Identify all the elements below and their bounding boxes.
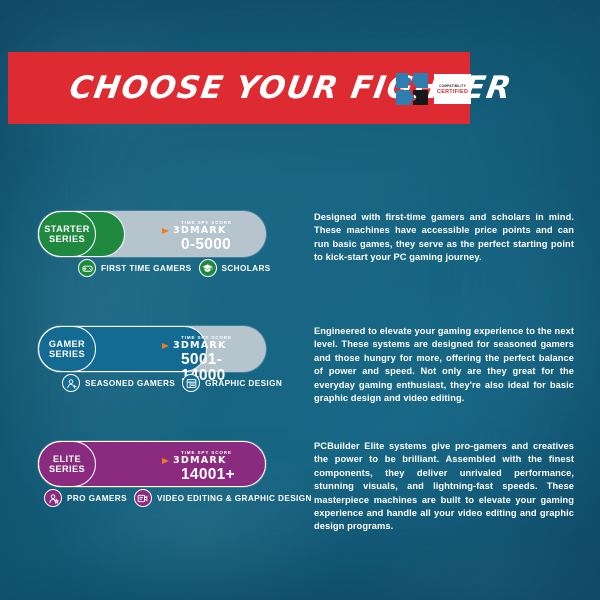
elite-series-badge[interactable]: ELITE SERIES [38, 441, 96, 487]
poster-canvas: CHOOSE YOUR FIGHTER COMPATIBILITY CERTIF… [0, 0, 600, 600]
certified-line1: COMPATIBILITY [439, 84, 466, 88]
tag-seasoned-gamers[interactable]: SEASONED GAMERS [62, 374, 175, 392]
gamer-series-badge[interactable]: GAMER SERIES [38, 326, 96, 372]
arrow-icon [162, 227, 171, 236]
gamepad-icon [78, 259, 96, 277]
gamer-3dmark-logo: 3DMARK [162, 341, 262, 351]
elite-score-bar: ELITE SERIES TIME SPY SCORE 3DMARK 14001… [38, 441, 266, 487]
tag-label: PRO GAMERS [67, 494, 127, 503]
puzzle-icon [394, 71, 430, 107]
tag-first-time-gamers[interactable]: FIRST TIME GAMERS [78, 259, 192, 277]
starter-series-line1: STARTER [44, 224, 90, 235]
certified-line2: CERTIFIED [437, 89, 468, 95]
arrow-icon [162, 457, 171, 466]
elite-3dmark-logo: 3DMARK [162, 456, 262, 466]
seasoned-gamer-icon [62, 374, 80, 392]
elite-description: PCBuilder Elite systems give pro-gamers … [314, 440, 574, 534]
elite-series-line2: SERIES [49, 464, 85, 475]
gamer-series-line1: GAMER [49, 339, 85, 350]
tag-scholars[interactable]: SCHOLARS [199, 259, 271, 277]
video-editing-icon [134, 489, 152, 507]
starter-score-value: 0-5000 [181, 237, 262, 253]
gamer-brand-mark: 3DMARK [173, 341, 227, 351]
tag-label: SCHOLARS [222, 264, 271, 273]
elite-series-line1: ELITE [53, 454, 81, 465]
elite-score-value: 14001+ [181, 467, 262, 483]
elite-brand-mark: 3DMARK [173, 456, 227, 466]
gamer-score-bar: GAMER SERIES TIME SPY SCORE 3DMARK 5001-… [38, 326, 266, 372]
arrow-icon [162, 342, 171, 351]
tag-pro-gamers[interactable]: PRO GAMERS [44, 489, 127, 507]
elite-score-block: TIME SPY SCORE 3DMARK 14001+ [162, 450, 262, 483]
compatibility-certified-logo: COMPATIBILITY CERTIFIED [394, 69, 468, 109]
gamer-tag-list: SEASONED GAMERS GRAPHIC DESIGN [62, 374, 282, 392]
header-banner: CHOOSE YOUR FIGHTER COMPATIBILITY CERTIF… [8, 52, 470, 124]
graphic-design-icon [182, 374, 200, 392]
tag-label: SEASONED GAMERS [85, 379, 175, 388]
tag-graphic-design[interactable]: GRAPHIC DESIGN [182, 374, 282, 392]
graduation-cap-icon [199, 259, 217, 277]
gamer-description: Engineered to elevate your gaming experi… [314, 325, 574, 405]
starter-series-line2: SERIES [49, 234, 85, 245]
starter-3dmark-logo: 3DMARK [162, 226, 262, 236]
tag-label: VIDEO EDITING & GRAPHIC DESIGN [157, 494, 312, 503]
tag-label: FIRST TIME GAMERS [101, 264, 192, 273]
pro-gamer-icon [44, 489, 62, 507]
starter-brand-mark: 3DMARK [173, 226, 227, 236]
certified-text-box: COMPATIBILITY CERTIFIED [434, 74, 471, 104]
starter-score-bar: STARTER SERIES TIME SPY SCORE 3DMARK 0-5… [38, 211, 266, 257]
starter-score-block: TIME SPY SCORE 3DMARK 0-5000 [162, 220, 262, 253]
starter-series-badge[interactable]: STARTER SERIES [38, 211, 96, 257]
starter-tag-list: FIRST TIME GAMERS SCHOLARS [78, 259, 271, 277]
tag-label: GRAPHIC DESIGN [205, 379, 282, 388]
elite-tag-list: PRO GAMERS VIDEO EDITING & GRAPHIC DESIG… [44, 489, 312, 507]
gamer-series-line2: SERIES [49, 349, 85, 360]
tag-video-editing-graphic-design[interactable]: VIDEO EDITING & GRAPHIC DESIGN [134, 489, 312, 507]
starter-description: Designed with first-time gamers and scho… [314, 211, 574, 265]
